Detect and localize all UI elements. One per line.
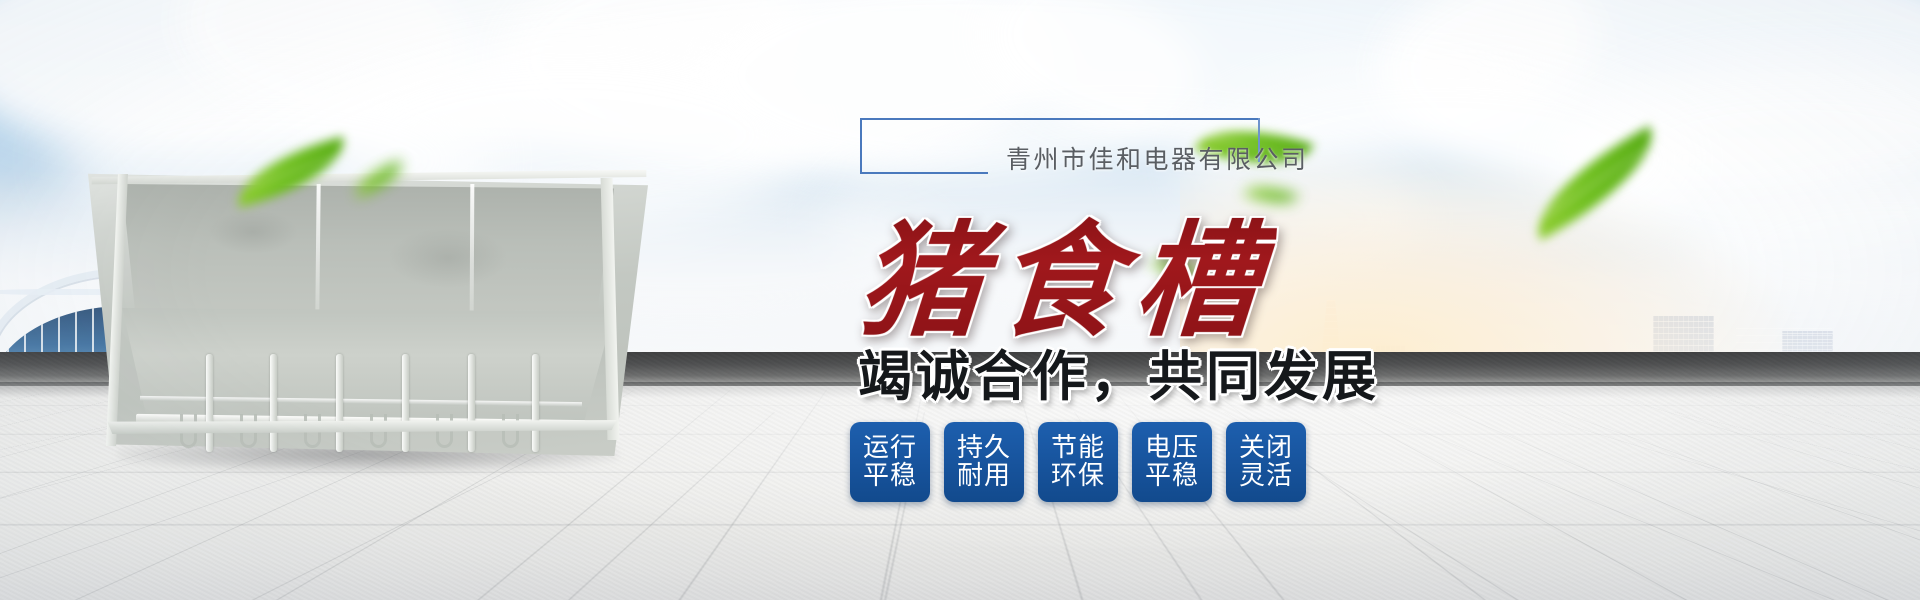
banner-text-block: 青州市佳和电器有限公司 猪食槽 竭诚合作，共同发展 运行平稳持久耐用节能环保电压… <box>840 110 1540 560</box>
banner-subheadline: 竭诚合作，共同发展 <box>858 332 1380 411</box>
feature-badge-line2: 耐用 <box>957 462 1011 490</box>
product-image-feeder-trough <box>88 168 648 468</box>
feature-badge-list: 运行平稳持久耐用节能环保电压平稳关闭灵活 <box>850 422 1306 502</box>
feature-badge-line2: 灵活 <box>1239 462 1293 490</box>
feature-badge-line1: 电压 <box>1145 434 1199 462</box>
feature-badge-line1: 持久 <box>957 434 1011 462</box>
feature-badge-line1: 节能 <box>1051 434 1105 462</box>
feature-badge-line1: 运行 <box>863 434 917 462</box>
feature-badge-line1: 关闭 <box>1239 434 1293 462</box>
feature-badge-3[interactable]: 节能环保 <box>1038 422 1118 502</box>
feature-badge-line2: 平稳 <box>1145 462 1199 490</box>
feature-badge-line2: 环保 <box>1051 462 1105 490</box>
feature-badge-5[interactable]: 关闭灵活 <box>1226 422 1306 502</box>
feature-badge-1[interactable]: 运行平稳 <box>850 422 930 502</box>
company-name-frame: 青州市佳和电器有限公司 <box>860 118 1300 186</box>
feature-badge-2[interactable]: 持久耐用 <box>944 422 1024 502</box>
company-name: 青州市佳和电器有限公司 <box>1006 140 1309 176</box>
promo-banner: 青州市佳和电器有限公司 猪食槽 竭诚合作，共同发展 运行平稳持久耐用节能环保电压… <box>0 0 1920 600</box>
feature-badge-line2: 平稳 <box>863 462 917 490</box>
feature-badge-4[interactable]: 电压平稳 <box>1132 422 1212 502</box>
